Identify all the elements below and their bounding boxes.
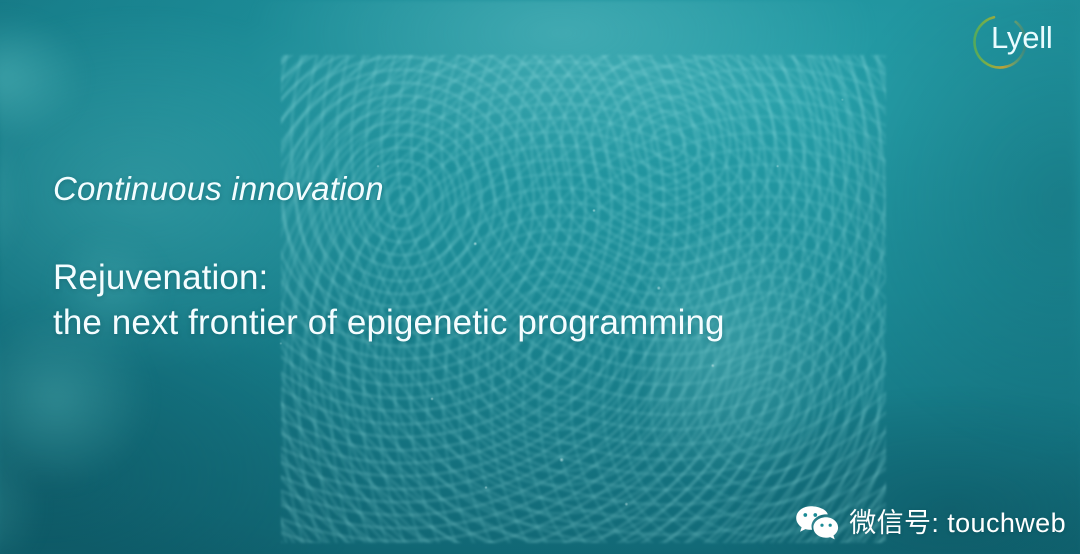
title-line-2: the next frontier of epigenetic programm… — [53, 301, 913, 346]
wechat-icon — [795, 504, 839, 542]
slide-canvas: Lyell Continuous innovation Rejuvenation… — [0, 0, 1080, 554]
page-title: Rejuvenation: the next frontier of epige… — [53, 208, 913, 346]
headline-block: Continuous innovation Rejuvenation: the … — [53, 170, 913, 346]
lyell-logo: Lyell — [970, 10, 1066, 74]
kicker-text: Continuous innovation — [53, 170, 913, 208]
logo-wordmark: Lyell — [991, 22, 1053, 53]
wechat-watermark: 微信号: touchweb — [795, 504, 1066, 542]
watermark-text: 微信号: touchweb — [849, 510, 1066, 537]
title-line-1: Rejuvenation: — [53, 256, 913, 301]
